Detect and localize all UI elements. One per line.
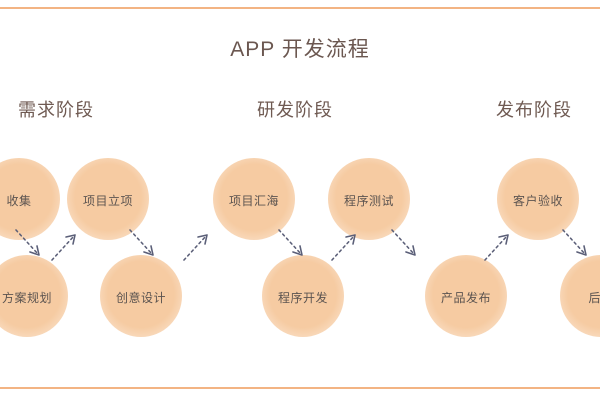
flow-node[interactable]: 项目立项 — [67, 158, 149, 240]
top-divider-rule — [0, 7, 600, 9]
flow-node-label: 项目汇海 — [229, 192, 279, 209]
page-title: APP 开发流程 — [0, 33, 600, 63]
flow-node[interactable]: 后期 — [560, 255, 600, 337]
flow-node[interactable]: 程序测试 — [328, 158, 410, 240]
flow-node-label: 方案规划 — [2, 289, 52, 306]
flow-node-label: 后期 — [588, 289, 600, 306]
flow-arrow-up-right — [182, 230, 216, 264]
flow-node-label: 收集 — [6, 192, 31, 209]
flow-node[interactable]: 产品发布 — [425, 255, 507, 337]
bottom-divider-rule — [0, 387, 600, 389]
flow-node[interactable]: 创意设计 — [100, 255, 182, 337]
flow-node-label: 产品发布 — [441, 289, 491, 306]
flow-arrow-up-right — [483, 230, 517, 264]
flow-node-label: 项目立项 — [83, 192, 133, 209]
flow-node[interactable]: 方案规划 — [0, 255, 68, 337]
phase-label-release: 发布阶段 — [496, 96, 572, 122]
flow-arrow-up-right — [50, 230, 84, 264]
flow-node-label: 客户验收 — [513, 192, 563, 209]
flow-node[interactable]: 客户验收 — [497, 158, 579, 240]
flow-node-label: 创意设计 — [116, 289, 166, 306]
phase-label-development: 研发阶段 — [257, 96, 333, 122]
flow-node-label: 程序测试 — [344, 192, 394, 209]
flow-node-label: 程序开发 — [278, 289, 328, 306]
phase-label-requirements: 需求阶段 — [18, 96, 94, 122]
slide-canvas: APP 开发流程 需求阶段 研发阶段 发布阶段 收集方案规划项目立项创意设计项目… — [0, 0, 600, 400]
flow-arrow-down-right — [390, 228, 424, 262]
flow-node[interactable]: 收集 — [0, 158, 60, 240]
flow-node[interactable]: 项目汇海 — [213, 158, 295, 240]
flow-node[interactable]: 程序开发 — [262, 255, 344, 337]
